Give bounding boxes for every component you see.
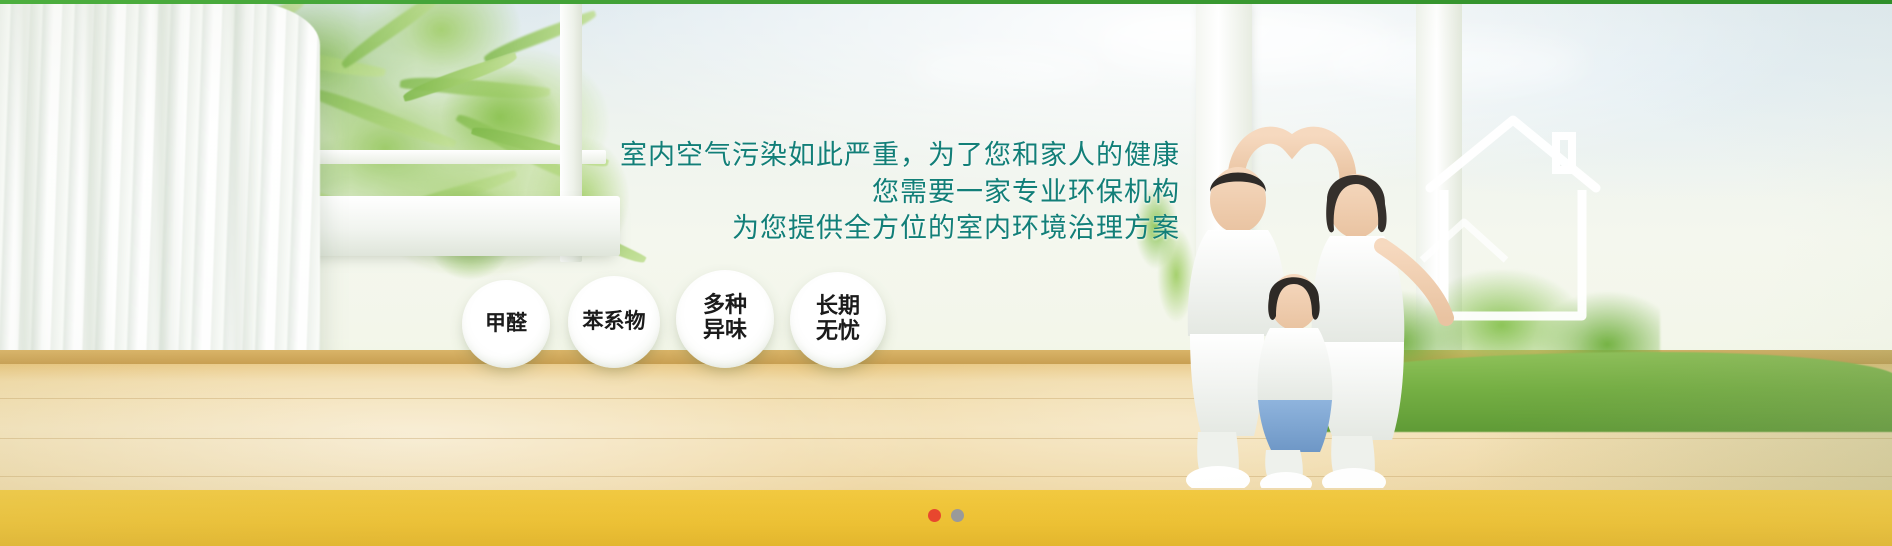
badge-benzene-line-1: 苯系物	[583, 310, 646, 334]
cloud-shape	[908, 47, 1108, 91]
headline-line-3: 为您提供全方位的室内环境治理方案	[0, 211, 1180, 248]
badge-formaldehyde-line-1: 甲醛	[485, 312, 527, 336]
carousel-pagination	[928, 509, 964, 522]
carousel-dot-2[interactable]	[951, 509, 964, 522]
floor-shadow	[1472, 350, 1892, 490]
badge-long-term[interactable]: 长期 无忧	[790, 272, 886, 368]
badge-long-term-line-1: 长期	[816, 295, 860, 320]
feature-badge-group: 甲醛 苯系物 多种 异味 长期 无忧	[462, 270, 886, 368]
headline-block: 室内空气污染如此严重，为了您和家人的健康 您需要一家专业环保机构 为您提供全方位…	[0, 138, 1180, 248]
badge-odors-line-1: 多种	[703, 294, 747, 319]
badge-benzene[interactable]: 苯系物	[568, 276, 660, 368]
badge-odors[interactable]: 多种 异味	[676, 270, 774, 368]
badge-formaldehyde[interactable]: 甲醛	[462, 280, 550, 368]
headline-line-1: 室内空气污染如此严重，为了您和家人的健康	[0, 138, 1180, 175]
carousel-dot-1[interactable]	[928, 509, 941, 522]
hero-banner: 室内空气污染如此严重，为了您和家人的健康 您需要一家专业环保机构 为您提供全方位…	[0, 0, 1892, 546]
top-green-rule	[0, 0, 1892, 4]
badge-long-term-line-2: 无忧	[816, 320, 860, 345]
headline-line-2: 您需要一家专业环保机构	[0, 175, 1180, 212]
badge-odors-line-2: 异味	[703, 319, 747, 344]
